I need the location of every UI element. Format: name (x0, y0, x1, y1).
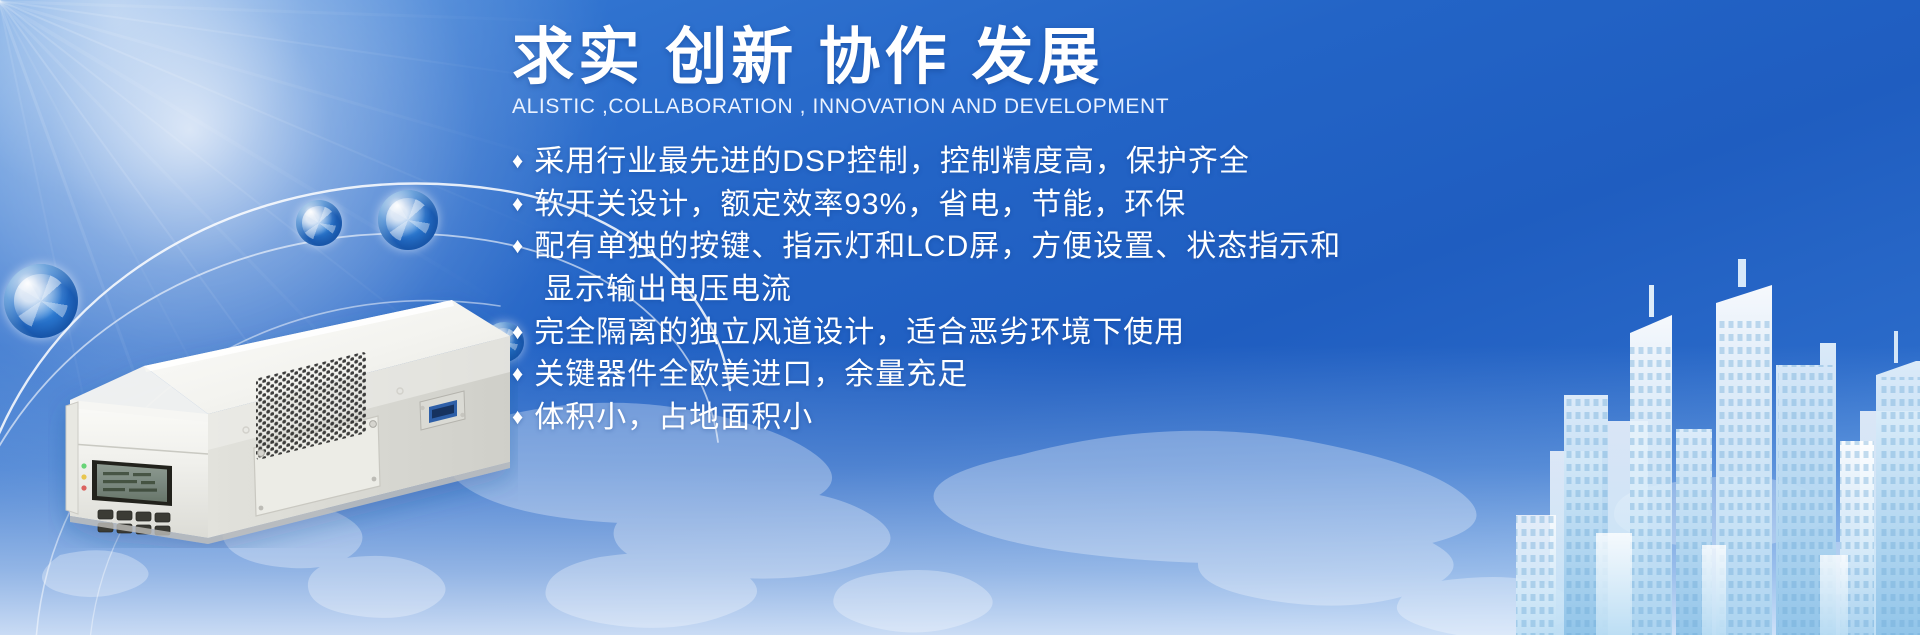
feature-item: ♦软开关设计，额定效率93%，省电，节能，环保 (512, 184, 1512, 227)
feature-item: ♦体积小，占地面积小 (512, 397, 1512, 440)
feature-item: ♦完全隔离的独立风道设计，适合恶劣环境下使用 (512, 312, 1512, 355)
globe-icon (378, 190, 438, 250)
copy-block: 求实 创新 协作 发展 ALISTIC ,COLLABORATION , INN… (512, 22, 1512, 439)
diamond-bullet-icon: ♦ (512, 354, 524, 395)
lcd-screen (92, 460, 172, 506)
feature-text: 关键器件全欧美进口，余量充足 (534, 354, 1512, 397)
diamond-bullet-icon: ♦ (512, 226, 524, 267)
diamond-bullet-icon: ♦ (512, 184, 524, 225)
diamond-bullet-icon: ♦ (512, 312, 524, 353)
diamond-bullet-icon: ♦ (512, 397, 524, 438)
status-indicator-leds (81, 463, 86, 490)
feature-text: 配有单独的按键、指示灯和LCD屏，方便设置、状态指示和 (534, 226, 1512, 269)
feature-text: 完全隔离的独立风道设计，适合恶劣环境下使用 (534, 312, 1512, 355)
promo-banner: 求实 创新 协作 发展 ALISTIC ,COLLABORATION , INN… (0, 0, 1920, 635)
globe-icon (296, 200, 342, 246)
feature-text: 显示输出电压电流 (544, 269, 1512, 312)
feature-text: 体积小，占地面积小 (534, 397, 1512, 440)
subtitle: ALISTIC ,COLLABORATION , INNOVATION AND … (512, 95, 1512, 119)
feature-item: ♦关键器件全欧美进口，余量充足 (512, 354, 1512, 397)
feature-item: ♦配有单独的按键、指示灯和LCD屏，方便设置、状态指示和 (512, 226, 1512, 269)
feature-text: 软开关设计，额定效率93%，省电，节能，环保 (534, 184, 1512, 227)
diamond-bullet-icon: ♦ (512, 141, 524, 182)
rackmount-rectifier-unit (48, 248, 518, 548)
feature-text: 采用行业最先进的DSP控制，控制精度高，保护齐全 (534, 141, 1512, 184)
feature-list: ♦采用行业最先进的DSP控制，控制精度高，保护齐全♦软开关设计，额定效率93%，… (512, 141, 1512, 439)
feature-item: ♦显示输出电压电流 (512, 269, 1512, 312)
page-title: 求实 创新 协作 发展 (512, 22, 1512, 93)
feature-item: ♦采用行业最先进的DSP控制，控制精度高，保护齐全 (512, 141, 1512, 184)
